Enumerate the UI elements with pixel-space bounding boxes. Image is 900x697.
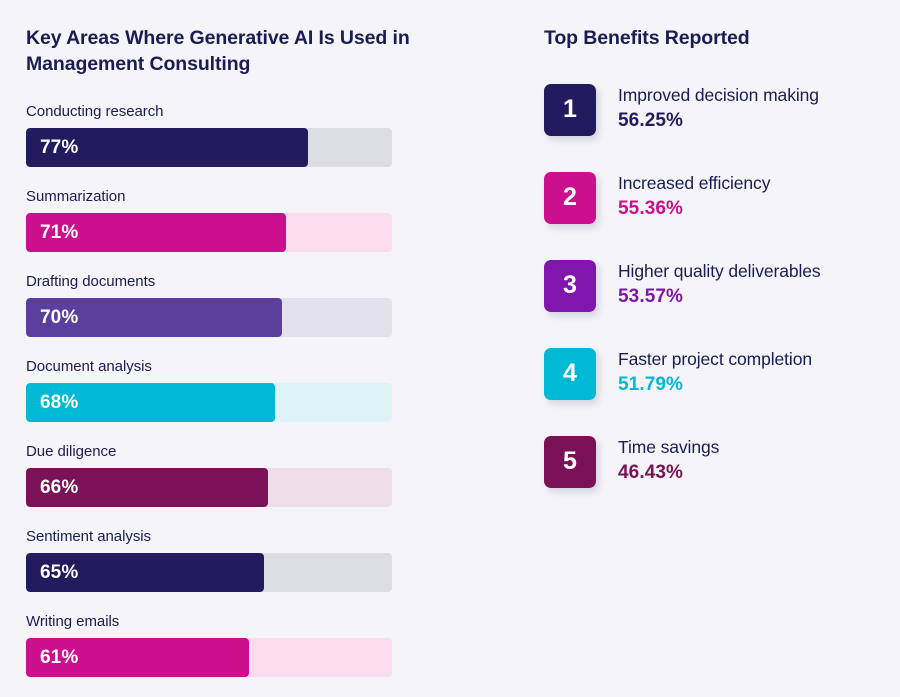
top-benefits-panel: Top Benefits Reported 1Improved decision… — [530, 0, 900, 697]
benefit-rank-badge: 3 — [544, 260, 596, 312]
benefit-rank-badge: 5 — [544, 436, 596, 488]
bar-fill: 68% — [26, 383, 275, 422]
bar-track: 61% — [26, 638, 392, 677]
bar-fill: 77% — [26, 128, 308, 167]
benefit-text-block: Increased efficiency55.36% — [596, 172, 770, 221]
benefit-rank-number: 4 — [563, 361, 577, 386]
bar-row: Sentiment analysis65% — [26, 528, 398, 592]
benefit-label: Increased efficiency — [618, 173, 770, 194]
bar-label: Sentiment analysis — [26, 528, 398, 546]
bar-fill: 70% — [26, 298, 282, 337]
bar-row: Summarization71% — [26, 188, 398, 252]
bar-fill: 71% — [26, 213, 286, 252]
benefit-label: Improved decision making — [618, 85, 819, 106]
benefit-label: Time savings — [618, 437, 719, 458]
benefit-row: 4Faster project completion51.79% — [544, 348, 900, 400]
benefit-row: 2Increased efficiency55.36% — [544, 172, 900, 224]
bar-value-label: 68% — [40, 392, 78, 414]
benefit-percentage: 55.36% — [618, 197, 770, 221]
benefit-percentage: 46.43% — [618, 461, 719, 485]
bar-label: Writing emails — [26, 613, 398, 631]
usage-areas-panel: Key Areas Where Generative AI Is Used in… — [0, 0, 530, 697]
bar-track: 68% — [26, 383, 392, 422]
bar-value-label: 77% — [40, 137, 78, 159]
bar-track: 71% — [26, 213, 392, 252]
benefit-rank-badge: 2 — [544, 172, 596, 224]
benefit-rank-number: 3 — [563, 273, 577, 298]
bar-row: Writing emails61% — [26, 613, 398, 677]
top-benefits-list: 1Improved decision making56.25%2Increase… — [544, 84, 900, 488]
top-benefits-title: Top Benefits Reported — [544, 26, 900, 52]
bar-row: Drafting documents70% — [26, 273, 398, 337]
bar-label: Summarization — [26, 188, 398, 206]
infographic-root: Key Areas Where Generative AI Is Used in… — [0, 0, 900, 697]
bar-track: 66% — [26, 468, 392, 507]
benefit-row: 3Higher quality deliverables53.57% — [544, 260, 900, 312]
benefit-percentage: 51.79% — [618, 373, 812, 397]
bar-value-label: 71% — [40, 222, 78, 244]
benefit-row: 5Time savings46.43% — [544, 436, 900, 488]
benefit-rank-number: 5 — [563, 449, 577, 474]
bar-track: 70% — [26, 298, 392, 337]
bar-value-label: 61% — [40, 647, 78, 669]
benefit-rank-number: 1 — [563, 97, 577, 122]
bar-value-label: 65% — [40, 562, 78, 584]
bar-label: Drafting documents — [26, 273, 398, 291]
benefit-percentage: 53.57% — [618, 285, 821, 309]
benefit-text-block: Faster project completion51.79% — [596, 348, 812, 397]
bar-row: Conducting research77% — [26, 103, 398, 167]
bar-label: Conducting research — [26, 103, 398, 121]
bar-row: Document analysis68% — [26, 358, 398, 422]
benefit-label: Faster project completion — [618, 349, 812, 370]
usage-areas-bar-list: Conducting research77%Summarization71%Dr… — [26, 103, 398, 677]
bar-track: 65% — [26, 553, 392, 592]
bar-fill: 66% — [26, 468, 268, 507]
bar-value-label: 66% — [40, 477, 78, 499]
bar-value-label: 70% — [40, 307, 78, 329]
bar-fill: 61% — [26, 638, 249, 677]
benefit-row: 1Improved decision making56.25% — [544, 84, 900, 136]
benefit-text-block: Higher quality deliverables53.57% — [596, 260, 821, 309]
benefit-text-block: Improved decision making56.25% — [596, 84, 819, 133]
bar-fill: 65% — [26, 553, 264, 592]
benefit-label: Higher quality deliverables — [618, 261, 821, 282]
benefit-text-block: Time savings46.43% — [596, 436, 719, 485]
benefit-rank-badge: 4 — [544, 348, 596, 400]
bar-label: Due diligence — [26, 443, 398, 461]
usage-areas-title: Key Areas Where Generative AI Is Used in… — [26, 26, 426, 77]
benefit-rank-badge: 1 — [544, 84, 596, 136]
bar-row: Due diligence66% — [26, 443, 398, 507]
bar-track: 77% — [26, 128, 392, 167]
benefit-percentage: 56.25% — [618, 109, 819, 133]
bar-label: Document analysis — [26, 358, 398, 376]
benefit-rank-number: 2 — [563, 185, 577, 210]
